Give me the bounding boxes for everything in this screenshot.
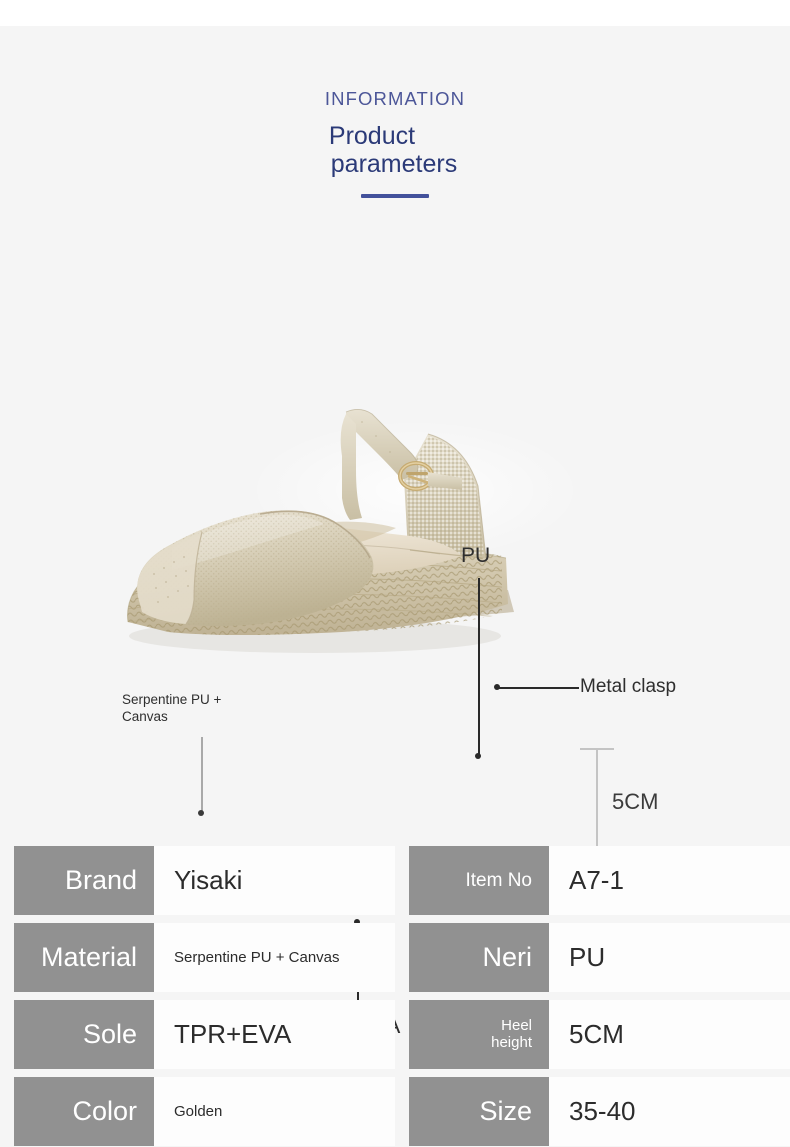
spec-cell-pair: Material Serpentine PU + Canvas bbox=[14, 923, 395, 992]
spec-value: Yisaki bbox=[154, 846, 395, 915]
spec-label: Size bbox=[409, 1077, 549, 1146]
spec-value: Golden bbox=[154, 1077, 395, 1146]
annotation-heel-measure-label: 5CM bbox=[612, 789, 658, 815]
spec-value: 5CM bbox=[549, 1000, 790, 1069]
spec-label: Heel height bbox=[409, 1000, 549, 1069]
spec-label: Neri bbox=[409, 923, 549, 992]
spec-label: Color bbox=[14, 1077, 154, 1146]
page-header: INFORMATION Product parameters bbox=[0, 26, 790, 198]
spec-cell-pair: Color Golden bbox=[14, 1077, 395, 1146]
spec-label: Brand bbox=[14, 846, 154, 915]
title-accent-bar bbox=[361, 194, 429, 198]
table-row: Brand Yisaki Item No A7-1 bbox=[0, 846, 790, 915]
spec-table: Brand Yisaki Item No A7-1 Material Serpe… bbox=[0, 846, 790, 1147]
annotation-upper-material-leader bbox=[201, 737, 203, 813]
spec-label: Item No bbox=[409, 846, 549, 915]
annotation-metal-clasp-label: Metal clasp bbox=[580, 676, 676, 698]
annotation-upper-material-label: Serpentine PU + Canvas bbox=[122, 691, 242, 725]
table-row: Material Serpentine PU + Canvas Neri PU bbox=[0, 923, 790, 992]
spec-value: A7-1 bbox=[549, 846, 790, 915]
product-photo bbox=[110, 360, 570, 690]
spec-cell-pair: Item No A7-1 bbox=[409, 846, 790, 915]
spec-label: Sole bbox=[14, 1000, 154, 1069]
spec-label: Material bbox=[14, 923, 154, 992]
page-title-line-1: Product bbox=[0, 122, 790, 150]
spec-cell-pair: Neri PU bbox=[409, 923, 790, 992]
page-title-line-2: parameters bbox=[0, 150, 790, 178]
product-figure: PU Metal clasp Serpentine PU + Canvas TP… bbox=[0, 250, 790, 820]
top-white-strip bbox=[0, 0, 790, 26]
spec-cell-pair: Heel height 5CM bbox=[409, 1000, 790, 1069]
spec-cell-pair: Brand Yisaki bbox=[14, 846, 395, 915]
shoe-illustration bbox=[110, 360, 570, 690]
spec-value: 35-40 bbox=[549, 1077, 790, 1146]
spec-cell-pair: Sole TPR+EVA bbox=[14, 1000, 395, 1069]
spec-cell-pair: Size 35-40 bbox=[409, 1077, 790, 1146]
page-title: Product parameters bbox=[0, 122, 790, 178]
heel-height-bracket bbox=[580, 748, 614, 858]
spec-value: TPR+EVA bbox=[154, 1000, 395, 1069]
section-eyebrow: INFORMATION bbox=[0, 88, 790, 110]
spec-value: PU bbox=[549, 923, 790, 992]
annotation-upper-material-dot bbox=[198, 810, 204, 816]
table-row: Color Golden Size 35-40 bbox=[0, 1077, 790, 1146]
table-row: Sole TPR+EVA Heel height 5CM bbox=[0, 1000, 790, 1069]
annotation-pu-leader bbox=[478, 578, 480, 758]
annotation-metal-clasp-leader bbox=[497, 687, 579, 689]
annotation-metal-clasp-dot bbox=[494, 684, 500, 690]
annotation-pu-label: PU bbox=[461, 544, 490, 568]
annotation-pu-dot bbox=[475, 753, 481, 759]
bracket-stem bbox=[596, 748, 598, 858]
spec-value: Serpentine PU + Canvas bbox=[154, 923, 395, 992]
product-parameters-page: INFORMATION Product parameters bbox=[0, 0, 790, 1147]
